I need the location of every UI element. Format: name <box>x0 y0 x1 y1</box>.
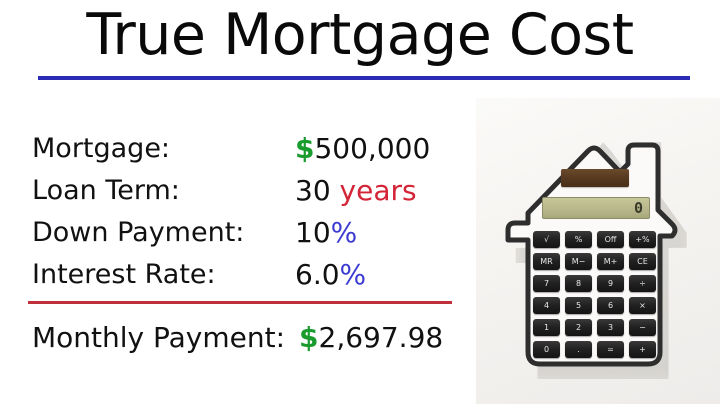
row-label-interest-rate: Interest Rate: <box>32 254 216 296</box>
key-percent[interactable]: % <box>565 231 592 248</box>
row-number: 500,000 <box>314 132 430 165</box>
row-number: 30 <box>295 174 331 207</box>
list-item: Loan Term: 30 years <box>32 170 462 212</box>
currency-symbol: $ <box>295 132 314 165</box>
row-label-loan-term: Loan Term: <box>32 170 180 212</box>
key-divide[interactable]: ÷ <box>629 275 656 292</box>
key-markup[interactable]: +% <box>629 231 656 248</box>
monthly-payment-value: $2,697.98 <box>299 321 443 354</box>
slide-canvas: True Mortgage Cost Mortgage: $500,000 Lo… <box>0 0 720 404</box>
key-minus[interactable]: − <box>629 319 656 336</box>
key-multiply[interactable]: × <box>629 297 656 314</box>
key-off[interactable]: Off <box>597 231 624 248</box>
row-value-loan-term: 30 years <box>295 170 417 212</box>
list-item: Interest Rate: 6.0% <box>32 254 462 296</box>
key-2[interactable]: 2 <box>565 319 592 336</box>
key-sqrt[interactable]: √ <box>533 231 560 248</box>
section-divider <box>28 301 452 304</box>
key-memory-minus[interactable]: M− <box>565 253 592 270</box>
monthly-payment-label: Monthly Payment: <box>32 321 285 354</box>
row-unit: % <box>340 258 367 291</box>
key-equals[interactable]: = <box>597 341 624 358</box>
currency-symbol: $ <box>299 321 318 354</box>
row-value-down-payment: 10% <box>295 212 357 254</box>
row-number: 6.0 <box>295 258 340 291</box>
house-calculator-image: 0 √ % Off +% MR M− M+ CE 7 8 9 ÷ 4 5 6 ×… <box>476 98 720 404</box>
list-item: Mortgage: $500,000 <box>32 128 462 170</box>
row-label-mortgage: Mortgage: <box>32 128 170 170</box>
key-plus[interactable]: + <box>629 341 656 358</box>
calculator-display: 0 <box>542 197 650 219</box>
row-value-interest-rate: 6.0% <box>295 254 366 296</box>
key-5[interactable]: 5 <box>565 297 592 314</box>
row-value-mortgage: $500,000 <box>295 128 430 170</box>
key-clear-entry[interactable]: CE <box>629 253 656 270</box>
mortgage-details-list: Mortgage: $500,000 Loan Term: 30 years D… <box>32 128 462 296</box>
key-4[interactable]: 4 <box>533 297 560 314</box>
key-decimal[interactable]: . <box>565 341 592 358</box>
key-8[interactable]: 8 <box>565 275 592 292</box>
page-title: True Mortgage Cost <box>0 2 720 68</box>
calculator-keypad[interactable]: √ % Off +% MR M− M+ CE 7 8 9 ÷ 4 5 6 × 1… <box>533 231 657 358</box>
key-memory-recall[interactable]: MR <box>533 253 560 270</box>
key-9[interactable]: 9 <box>597 275 624 292</box>
row-label-down-payment: Down Payment: <box>32 212 244 254</box>
key-0[interactable]: 0 <box>533 341 560 358</box>
house-calculator-body: 0 √ % Off +% MR M− M+ CE 7 8 9 ÷ 4 5 6 ×… <box>502 120 686 374</box>
key-memory-plus[interactable]: M+ <box>597 253 624 270</box>
title-underline <box>38 76 690 80</box>
key-1[interactable]: 1 <box>533 319 560 336</box>
monthly-payment-row: Monthly Payment:$2,697.98 <box>32 318 443 358</box>
monthly-payment-number: 2,697.98 <box>319 321 444 354</box>
display-value: 0 <box>634 200 643 217</box>
key-7[interactable]: 7 <box>533 275 560 292</box>
key-3[interactable]: 3 <box>597 319 624 336</box>
key-6[interactable]: 6 <box>597 297 624 314</box>
row-number: 10 <box>295 216 331 249</box>
row-unit: years <box>331 174 417 207</box>
list-item: Down Payment: 10% <box>32 212 462 254</box>
solar-panel <box>561 169 629 187</box>
row-unit: % <box>331 216 358 249</box>
